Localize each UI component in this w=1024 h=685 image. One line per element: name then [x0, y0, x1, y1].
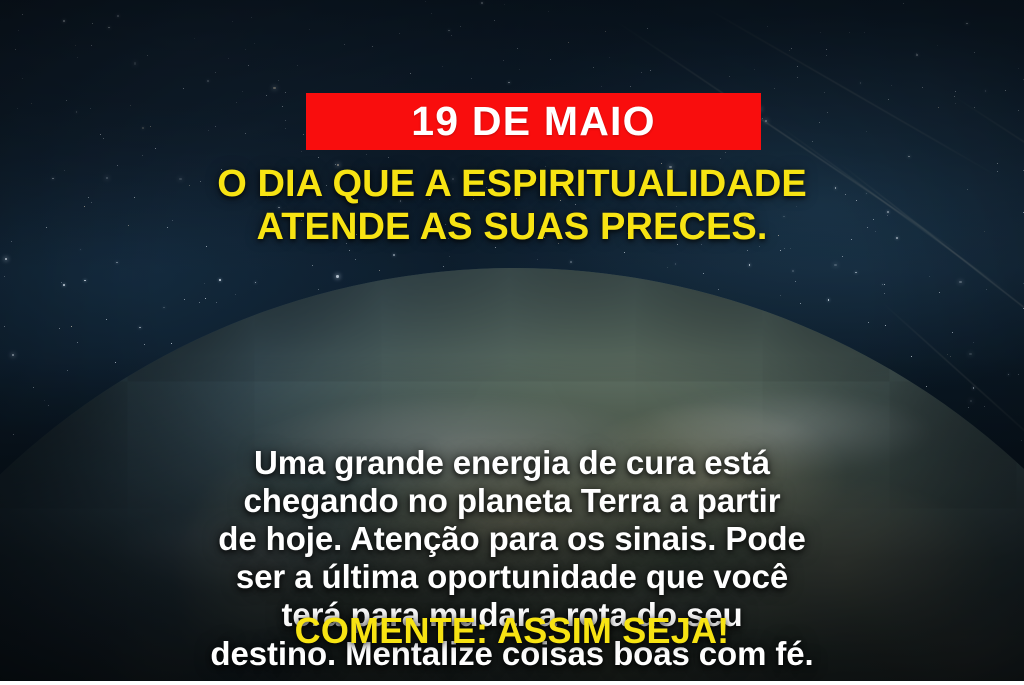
body-line-4: ser a última oportunidade que você	[42, 558, 982, 596]
poster-canvas: 19 DE MAIO O DIA QUE A ESPIRITUALIDADE A…	[0, 0, 1024, 685]
poster-content: 19 DE MAIO O DIA QUE A ESPIRITUALIDADE A…	[0, 0, 1024, 685]
body-line-2: chegando no planeta Terra a partir	[42, 482, 982, 520]
date-banner-label: 19 DE MAIO	[411, 101, 655, 142]
date-banner: 19 DE MAIO	[306, 93, 761, 150]
body-line-3: de hoje. Atenção para os sinais. Pode	[42, 520, 982, 558]
headline-line-1: O DIA QUE A ESPIRITUALIDADE	[50, 163, 974, 206]
headline-line-2: ATENDE AS SUAS PRECES.	[50, 206, 974, 249]
headline: O DIA QUE A ESPIRITUALIDADE ATENDE AS SU…	[50, 163, 974, 249]
body-line-1: Uma grande energia de cura está	[42, 444, 982, 482]
bottom-white-bar	[0, 681, 1024, 685]
call-to-action-text: COMENTE: ASSIM SEJA!	[42, 613, 982, 649]
